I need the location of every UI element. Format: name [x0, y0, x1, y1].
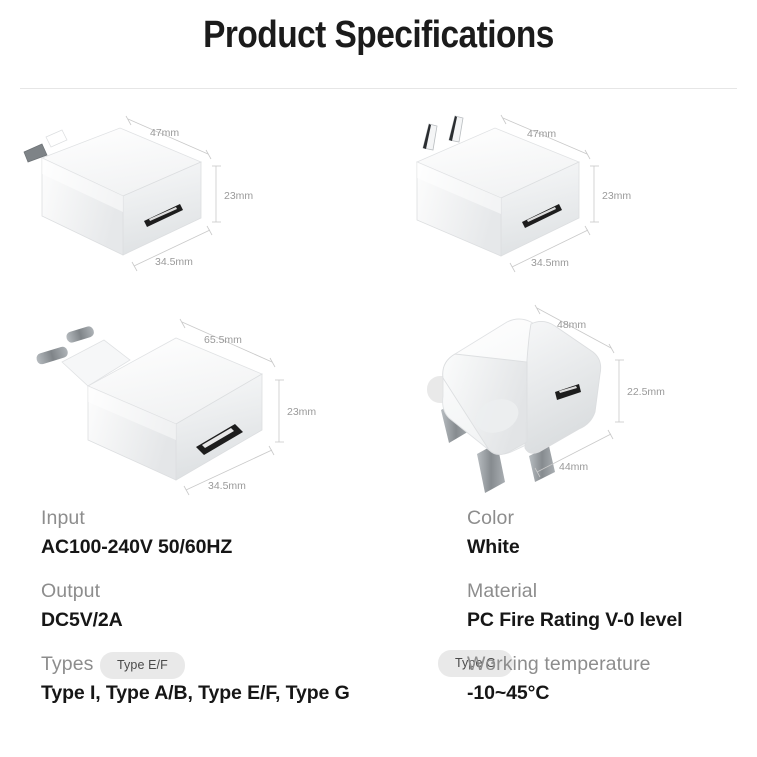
- spec-value-types: Type I, Type A/B, Type E/F, Type G: [41, 680, 441, 707]
- specifications-list: Input AC100-240V 50/60HZ Output DC5V/2A …: [0, 505, 757, 757]
- specs-column-right: Color White Material PC Fire Rating V-0 …: [467, 505, 747, 706]
- charger-render-type-ab: 47mm 23mm 34.5mm: [379, 100, 757, 300]
- spec-label-material: Material: [467, 578, 747, 605]
- charger-render-type-i: 47mm 23mm 34.5mm: [0, 100, 378, 300]
- spec-row-types: Types Type I, Type A/B, Type E/F, Type G: [41, 651, 441, 707]
- spec-row-input: Input AC100-240V 50/60HZ: [41, 505, 441, 561]
- spec-label-output: Output: [41, 578, 441, 605]
- spec-label-working-temperature: Working temperature: [467, 651, 747, 678]
- dimension-depth-type-ab: 34.5mm: [531, 257, 569, 269]
- dimension-length-type-ef: 65.5mm: [204, 334, 242, 346]
- spec-value-color: White: [467, 534, 747, 561]
- product-specifications-page: Product Specifications: [0, 0, 757, 757]
- dimension-height-type-ab: 23mm: [602, 190, 631, 202]
- product-figure-type-g: 48mm 22.5mm 44mm Type G: [379, 300, 757, 500]
- product-figure-type-ab: 47mm 23mm 34.5mm Type A/B: [379, 100, 757, 300]
- charger-render-type-g: 48mm 22.5mm 44mm: [379, 300, 757, 500]
- title-divider: [20, 88, 737, 89]
- dimension-depth-type-i: 34.5mm: [155, 256, 193, 268]
- charger-render-type-ef: 65.5mm 23mm 34.5mm: [0, 300, 378, 500]
- dimension-length-type-g: 48mm: [557, 319, 586, 331]
- dimension-height-type-ef: 23mm: [287, 406, 316, 418]
- dimension-height-type-i: 23mm: [224, 190, 253, 202]
- spec-value-input: AC100-240V 50/60HZ: [41, 534, 441, 561]
- specs-column-left: Input AC100-240V 50/60HZ Output DC5V/2A …: [41, 505, 441, 706]
- dimension-length-type-i: 47mm: [150, 127, 179, 139]
- spec-row-color: Color White: [467, 505, 747, 561]
- spec-value-working-temperature: -10~45°C: [467, 680, 747, 707]
- spec-label-input: Input: [41, 505, 441, 532]
- product-figure-type-i: 47mm 23mm 34.5mm Type I: [0, 100, 378, 300]
- spec-row-output: Output DC5V/2A: [41, 578, 441, 634]
- product-figure-type-ef: 65.5mm 23mm 34.5mm Type E/F: [0, 300, 378, 500]
- spec-label-color: Color: [467, 505, 747, 532]
- spec-value-material: PC Fire Rating V-0 level: [467, 607, 747, 634]
- spec-row-material: Material PC Fire Rating V-0 level: [467, 578, 747, 634]
- dimension-length-type-ab: 47mm: [527, 128, 556, 140]
- dimension-depth-type-g: 44mm: [559, 461, 588, 473]
- dimension-height-type-g: 22.5mm: [627, 386, 665, 398]
- spec-label-types: Types: [41, 651, 441, 678]
- product-gallery: 47mm 23mm 34.5mm Type I: [0, 100, 757, 500]
- page-title: Product Specifications: [45, 14, 711, 57]
- spec-row-working-temperature: Working temperature -10~45°C: [467, 651, 747, 707]
- dimension-depth-type-ef: 34.5mm: [208, 480, 246, 492]
- spec-value-output: DC5V/2A: [41, 607, 441, 634]
